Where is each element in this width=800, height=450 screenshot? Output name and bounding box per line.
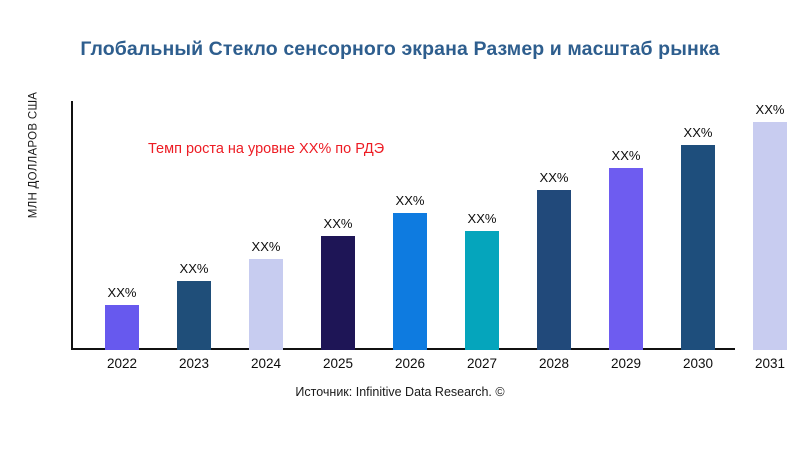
- bar-2025[interactable]: [321, 236, 355, 350]
- bar-value-label: XX%: [739, 102, 800, 117]
- x-tick-2029: 2029: [595, 356, 657, 371]
- bar-value-label: XX%: [91, 285, 153, 300]
- bar-value-label: XX%: [451, 211, 513, 226]
- bar-2024[interactable]: [249, 259, 283, 350]
- bar-value-label: XX%: [163, 261, 225, 276]
- source-caption: Источник: Infinitive Data Research. ©: [0, 385, 800, 399]
- bar-series: XX%XX%XX%XX%XX%XX%XX%XX%XX%XX%: [71, 101, 780, 350]
- bar-group-2026[interactable]: XX%: [393, 213, 427, 350]
- y-axis-title: МЛН ДОЛЛАРОВ США: [22, 45, 44, 265]
- x-tick-2027: 2027: [451, 356, 513, 371]
- y-axis-title-text: МЛН ДОЛЛАРОВ США: [27, 92, 39, 219]
- bar-2031[interactable]: [753, 122, 787, 350]
- bar-group-2022[interactable]: XX%: [105, 305, 139, 350]
- chart-title: Глобальный Стекло сенсорного экрана Разм…: [0, 38, 800, 61]
- plot-area: XX%XX%XX%XX%XX%XX%XX%XX%XX%XX%: [71, 101, 780, 350]
- bar-2030[interactable]: [681, 145, 715, 350]
- x-tick-2022: 2022: [91, 356, 153, 371]
- x-axis-tick-labels: 2022202320242025202620272028202920302031: [71, 356, 780, 376]
- x-tick-2031: 2031: [739, 356, 800, 371]
- bar-group-2023[interactable]: XX%: [177, 281, 211, 350]
- bar-2028[interactable]: [537, 190, 571, 350]
- x-tick-2023: 2023: [163, 356, 225, 371]
- bar-group-2025[interactable]: XX%: [321, 236, 355, 350]
- x-tick-2028: 2028: [523, 356, 585, 371]
- bar-group-2024[interactable]: XX%: [249, 259, 283, 350]
- bar-value-label: XX%: [595, 148, 657, 163]
- chart-container: Глобальный Стекло сенсорного экрана Разм…: [0, 0, 800, 450]
- bar-2023[interactable]: [177, 281, 211, 350]
- bar-2022[interactable]: [105, 305, 139, 350]
- bar-value-label: XX%: [307, 216, 369, 231]
- bar-value-label: XX%: [523, 170, 585, 185]
- bar-value-label: XX%: [379, 193, 441, 208]
- x-tick-2025: 2025: [307, 356, 369, 371]
- bar-group-2029[interactable]: XX%: [609, 168, 643, 350]
- bar-group-2027[interactable]: XX%: [465, 231, 499, 350]
- x-tick-2030: 2030: [667, 356, 729, 371]
- bar-group-2028[interactable]: XX%: [537, 190, 571, 350]
- growth-rate-annotation: Темп роста на уровне XX% по РДЭ: [148, 141, 384, 157]
- x-tick-2026: 2026: [379, 356, 441, 371]
- bar-2027[interactable]: [465, 231, 499, 350]
- bar-group-2030[interactable]: XX%: [681, 145, 715, 350]
- x-tick-2024: 2024: [235, 356, 297, 371]
- bar-value-label: XX%: [667, 125, 729, 140]
- bar-group-2031[interactable]: XX%: [753, 122, 787, 350]
- bar-value-label: XX%: [235, 239, 297, 254]
- bar-2026[interactable]: [393, 213, 427, 350]
- bar-2029[interactable]: [609, 168, 643, 350]
